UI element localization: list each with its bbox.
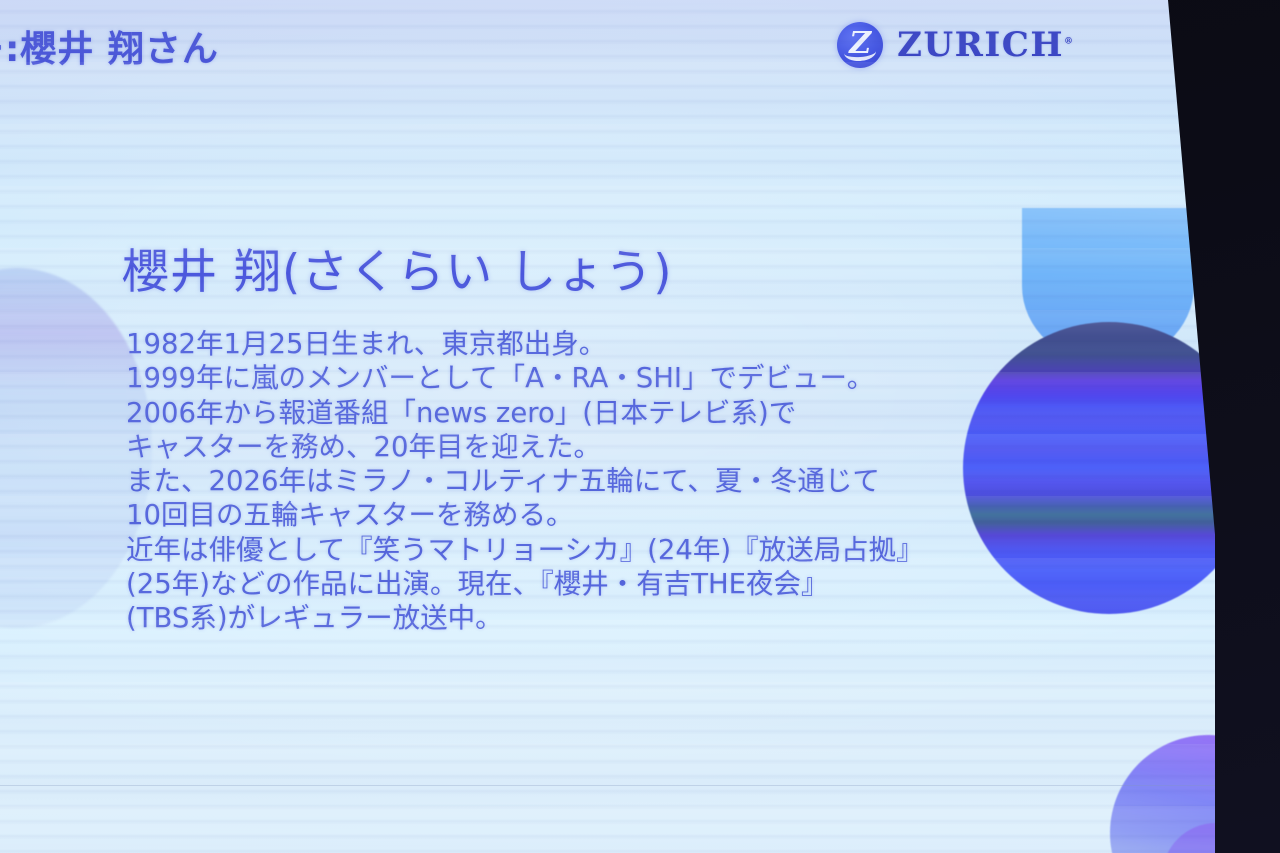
slide-body-text: 1982年1月25日生まれ、東京都出身。 1999年に嵐のメンバーとして「A・R… bbox=[126, 327, 924, 636]
body-line: また、2026年はミラノ・コルティナ五輪にて、夏・冬通じて bbox=[126, 464, 924, 498]
body-line: 近年は俳優として『笑うマトリョーシカ』(24年)『放送局占拠』 bbox=[126, 533, 924, 567]
slide-title-bar-text: ー:櫻井 翔さん bbox=[0, 20, 219, 72]
banded-circle-decoration bbox=[963, 322, 1215, 614]
zurich-z-badge-icon: Z bbox=[837, 22, 883, 68]
body-line: 2006年から報道番組「news zero」(日本テレビ系)で bbox=[126, 396, 924, 430]
body-line: キャスターを務め、20年目を迎えた。 bbox=[126, 430, 924, 464]
body-line: 1982年1月25日生まれ、東京都出身。 bbox=[126, 327, 924, 361]
zurich-wordmark: ZURICH® bbox=[897, 25, 1073, 65]
projection-screen: ー:櫻井 翔さん Z ZURICH® 櫻井 翔(さくらい しょう) 1982年1… bbox=[0, 0, 1215, 853]
body-line: 1999年に嵐のメンバーとして「A・RA・SHI」でデビュー。 bbox=[126, 361, 924, 395]
zurich-swoosh-icon bbox=[844, 43, 877, 62]
photo-of-projection-screen: ー:櫻井 翔さん Z ZURICH® 櫻井 翔(さくらい しょう) 1982年1… bbox=[0, 0, 1280, 853]
screen-seam-line bbox=[0, 785, 1215, 786]
slide-headline: 櫻井 翔(さくらい しょう) bbox=[122, 233, 673, 302]
zurich-wordmark-text: ZURICH bbox=[897, 25, 1064, 65]
body-line: 10回目の五輪キャスターを務める。 bbox=[126, 498, 924, 532]
zurich-logo: Z ZURICH® bbox=[837, 22, 1073, 68]
body-line: (TBS系)がレギュラー放送中。 bbox=[126, 601, 924, 635]
body-line: (25年)などの作品に出演。現在、『櫻井・有吉THE夜会』 bbox=[126, 567, 924, 601]
registered-trademark-icon: ® bbox=[1064, 37, 1073, 47]
